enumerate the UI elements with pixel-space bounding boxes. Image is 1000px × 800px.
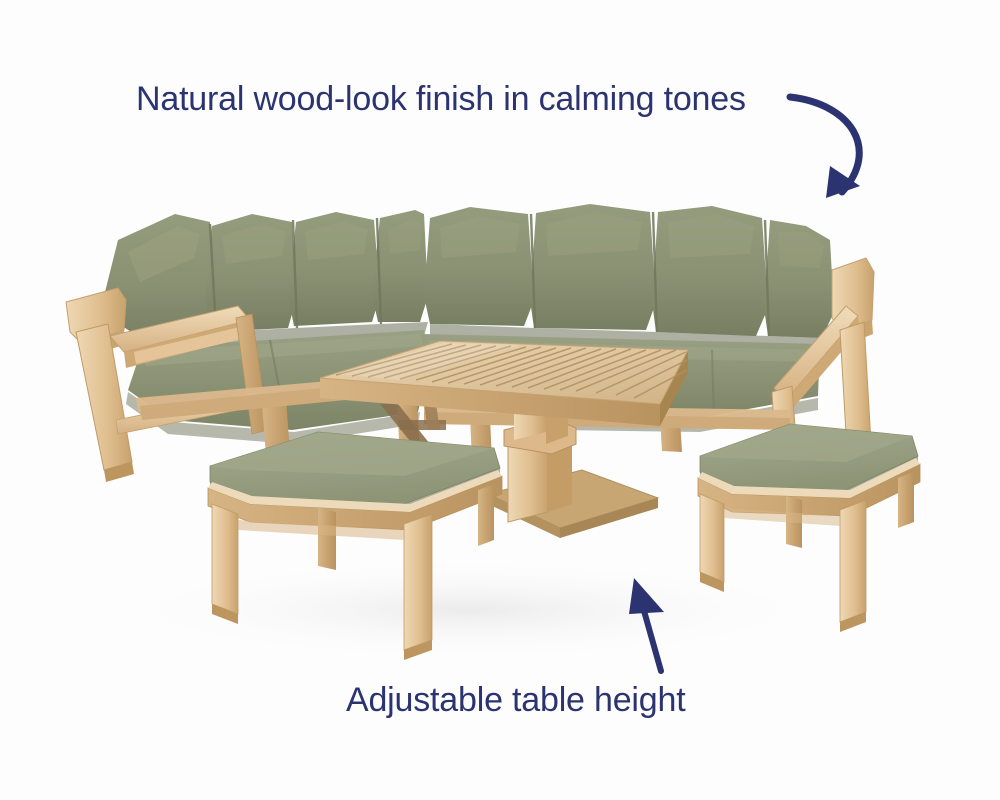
annotation-label-bottom: Adjustable table height <box>346 679 685 721</box>
right-ottoman-leg-front-left <box>700 494 724 582</box>
left-ottoman-leg-front-left <box>212 504 238 614</box>
right-back-cushions <box>424 204 834 350</box>
product-feature-graphic: Natural wood-look finish in calming tone… <box>0 0 1000 800</box>
annotation-label-top: Natural wood-look finish in calming tone… <box>136 78 746 120</box>
left-ottoman-leg-back-right <box>478 484 494 546</box>
left-ottoman-leg-front-right <box>404 514 432 650</box>
right-ottoman-leg-front-right <box>840 500 866 622</box>
floor-shadow <box>100 558 840 662</box>
left-ottoman-leg-back-left <box>318 508 336 570</box>
curved-arrow-down-right-icon <box>790 97 860 198</box>
right-ottoman-leg-back-right <box>898 472 914 528</box>
